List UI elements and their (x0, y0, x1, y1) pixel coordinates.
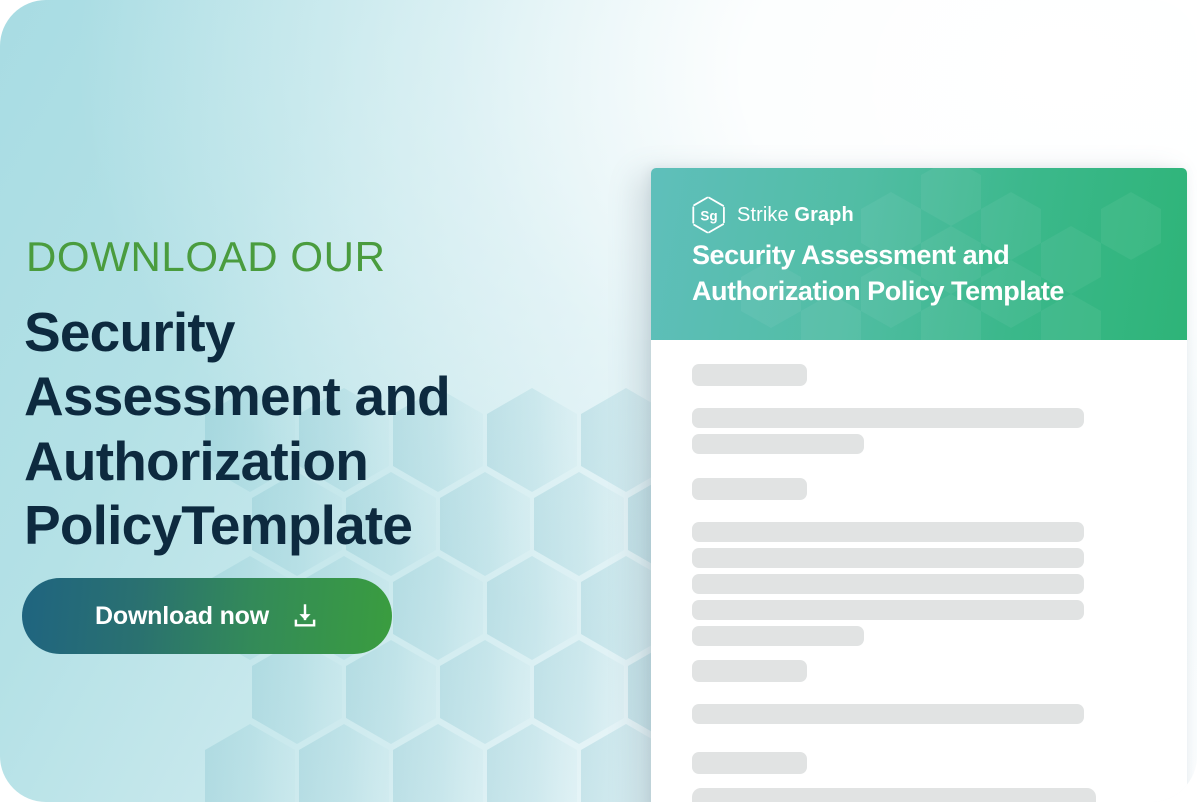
placeholder-heading (692, 478, 807, 500)
download-icon (291, 602, 319, 630)
hexagon-shape (440, 640, 530, 744)
hexagon-shape (346, 640, 436, 744)
placeholder-paragraph-line (692, 704, 1084, 724)
placeholder-paragraph-line (692, 408, 1084, 428)
hexagon-shape (534, 640, 624, 744)
svg-text:Sg: Sg (700, 209, 717, 224)
hexagon-shape (393, 556, 483, 660)
brand-name-light: Strike (737, 204, 789, 226)
document-preview[interactable]: Sg Strike Graph Security Assessment and … (651, 168, 1187, 802)
placeholder-paragraph-line (692, 600, 1084, 620)
promo-copy-block: DOWNLOAD OUR Security Assessment and Aut… (24, 236, 584, 557)
download-now-label: Download now (95, 602, 269, 631)
hexagon-logo-icon: Sg (692, 196, 726, 234)
brand-name-bold: Graph (794, 204, 853, 226)
hexagon-shape (393, 724, 483, 802)
promo-eyebrow: DOWNLOAD OUR (26, 236, 584, 278)
placeholder-paragraph-line (692, 434, 864, 454)
document-body (651, 340, 1187, 802)
promo-headline: Security Assessment and Authorization Po… (24, 300, 494, 557)
document-title: Security Assessment and Authorization Po… (692, 238, 1132, 310)
hexagon-shape (299, 724, 389, 802)
placeholder-heading (692, 364, 807, 386)
placeholder-paragraph-line (692, 626, 864, 646)
placeholder-paragraph-line (692, 522, 1084, 542)
placeholder-heading (692, 660, 807, 682)
hexagon-shape (487, 724, 577, 802)
hexagon-shape (252, 640, 342, 744)
placeholder-paragraph-line (692, 574, 1084, 594)
placeholder-heading (692, 752, 807, 774)
brand-lockup: Sg Strike Graph (692, 196, 854, 234)
promo-card: DOWNLOAD OUR Security Assessment and Aut… (0, 0, 1197, 802)
hexagon-shape (205, 724, 295, 802)
placeholder-paragraph-line (692, 548, 1084, 568)
document-header: Sg Strike Graph Security Assessment and … (651, 168, 1187, 340)
placeholder-image-block (692, 788, 1096, 802)
brand-wordmark: Strike Graph (737, 204, 854, 227)
download-now-button[interactable]: Download now (22, 578, 392, 654)
hexagon-shape (487, 556, 577, 660)
